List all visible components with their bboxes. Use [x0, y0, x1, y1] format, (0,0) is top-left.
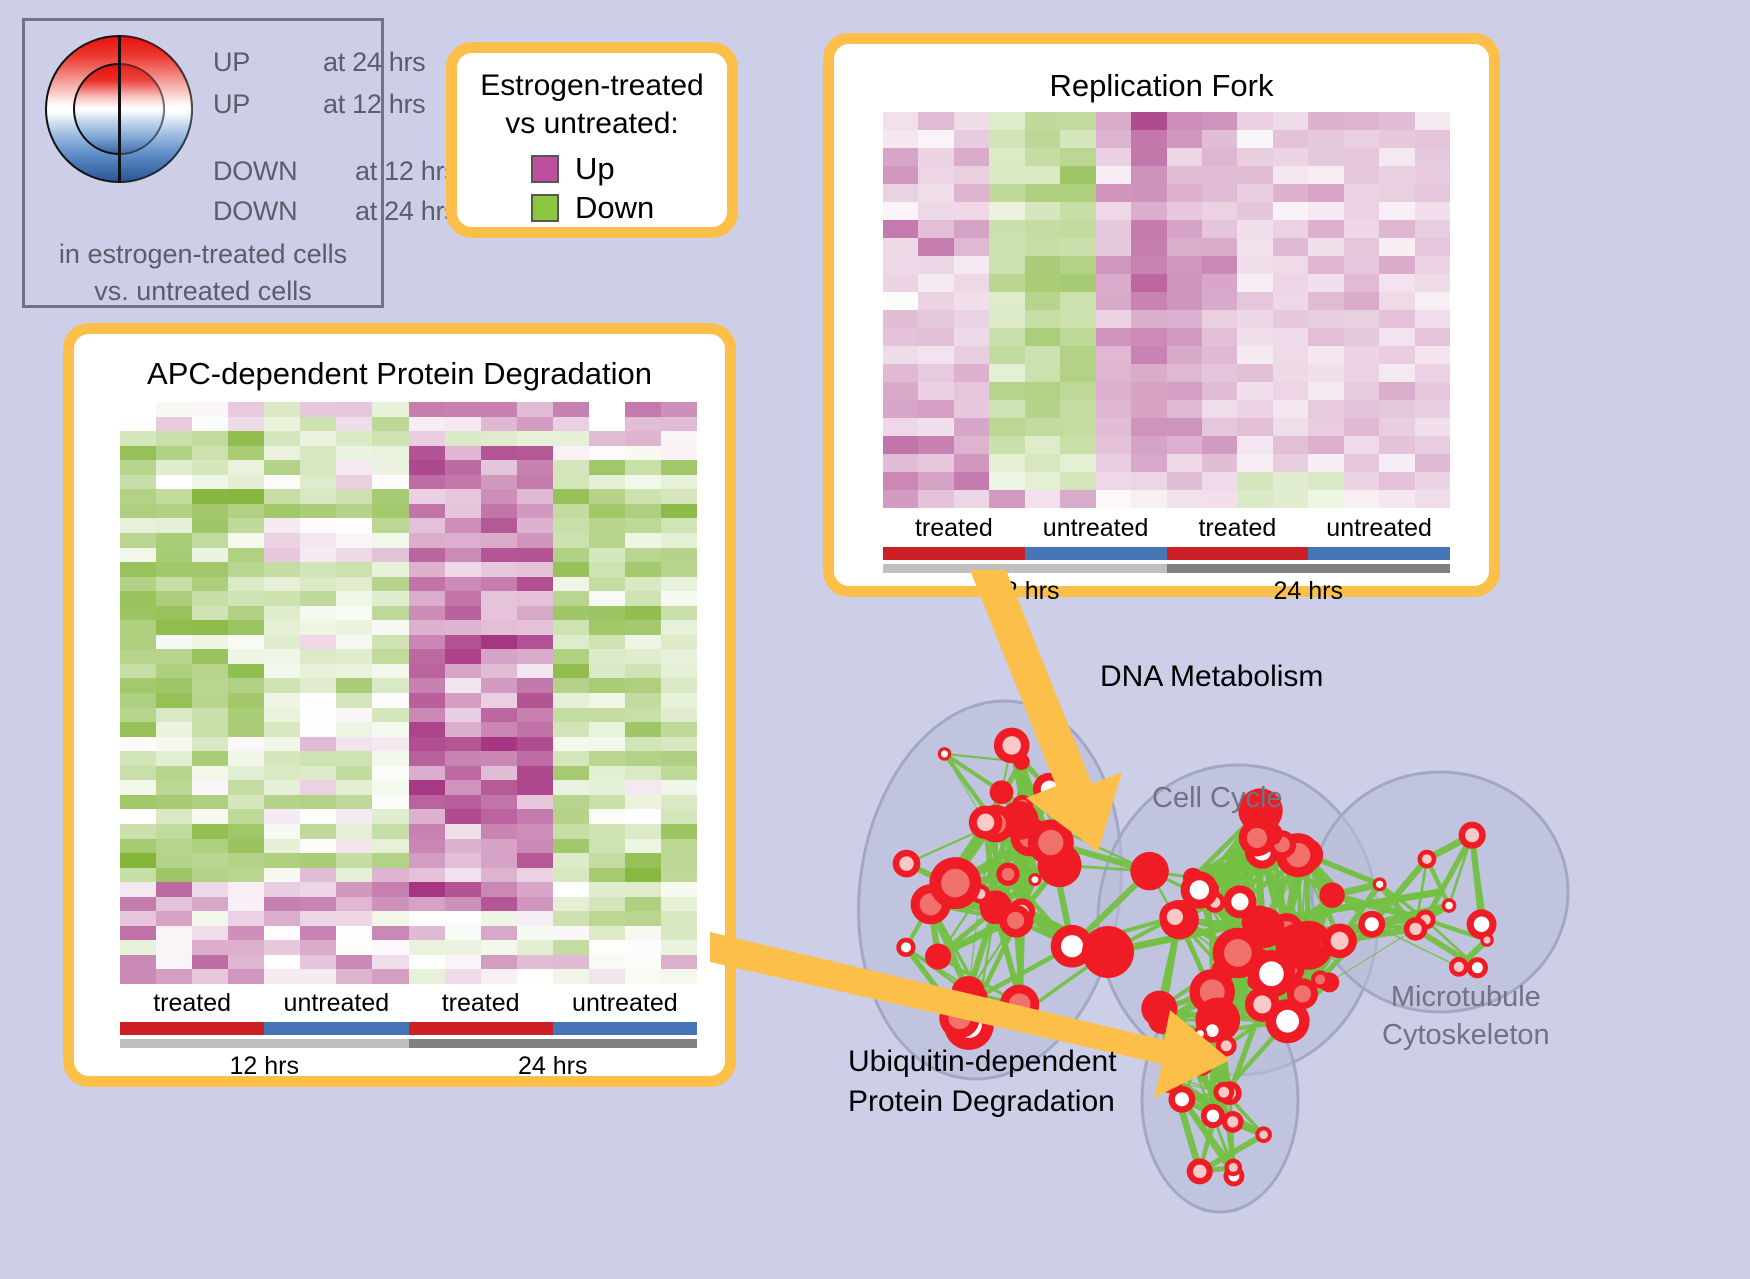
- heatmap-cell: [372, 926, 408, 941]
- heatmap-cell: [336, 635, 372, 650]
- heatmap-cell: [1096, 130, 1131, 148]
- heatmap-cell: [300, 766, 336, 781]
- heatmap-cell: [192, 955, 228, 970]
- legend-state-up-24: UP: [213, 47, 250, 78]
- heatmap-cell: [264, 664, 300, 679]
- heatmap-cell: [1379, 436, 1414, 454]
- heatmap-cell: [409, 417, 445, 432]
- network-node[interactable]: [1028, 873, 1041, 886]
- node-inner-ring: [1294, 985, 1311, 1002]
- network-node[interactable]: [1311, 970, 1329, 988]
- heatmap-cell: [517, 737, 553, 752]
- heatmap-cell: [553, 635, 589, 650]
- heatmap-cell: [1308, 400, 1343, 418]
- heatmap-cell: [372, 969, 408, 984]
- heatmap-cell: [918, 328, 953, 346]
- heatmap-cell: [1096, 490, 1131, 508]
- replication-fork-condition-labels: treated untreated treated untreated: [883, 514, 1450, 543]
- heatmap-cell: [989, 364, 1024, 382]
- heatmap-cell: [1025, 274, 1060, 292]
- heatmap-cell: [372, 577, 408, 592]
- heatmap-cell: [1379, 112, 1414, 130]
- heatmap-cell: [120, 577, 156, 592]
- network-node[interactable]: [1373, 877, 1387, 891]
- heatmap-cell: [1202, 400, 1237, 418]
- heatmap-cell: [192, 664, 228, 679]
- panel-apc-degradation: APC-dependent Protein Degradation treate…: [63, 323, 736, 1087]
- heatmap-cell: [1237, 400, 1272, 418]
- heatmap-cell: [228, 518, 264, 533]
- network-node[interactable]: [1225, 1159, 1243, 1177]
- heatmap-cell: [156, 824, 192, 839]
- heatmap-cell: [553, 606, 589, 621]
- heatmap-cell: [625, 839, 661, 854]
- heatmap-cell: [1379, 382, 1414, 400]
- heatmap-cell: [954, 400, 989, 418]
- network-node[interactable]: [1459, 822, 1486, 849]
- heatmap-cell: [553, 678, 589, 693]
- heatmap-cell: [1167, 436, 1202, 454]
- heatmap-cell: [336, 620, 372, 635]
- heatmap-cell: [228, 693, 264, 708]
- network-node[interactable]: [1417, 850, 1436, 869]
- heatmap-cell: [409, 911, 445, 926]
- heatmap-cell: [517, 722, 553, 737]
- heatmap-cell: [1273, 472, 1308, 490]
- heatmap-cell: [954, 364, 989, 382]
- heatmap-cell: [120, 722, 156, 737]
- heatmap-cell: [625, 548, 661, 563]
- heatmap-cell: [517, 824, 553, 839]
- heatmap-cell: [192, 853, 228, 868]
- concentric-rings-diagram: [45, 35, 195, 187]
- heatmap-cell: [372, 824, 408, 839]
- heatmap-cell: [481, 751, 517, 766]
- heatmap-cell: [661, 664, 697, 679]
- heatmap-cell: [445, 635, 481, 650]
- heatmap-cell: [517, 635, 553, 650]
- heatmap-cell: [192, 897, 228, 912]
- heatmap-cell: [1415, 310, 1450, 328]
- heatmap-cell: [1167, 148, 1202, 166]
- heatmap-cell: [883, 184, 918, 202]
- network-node[interactable]: [1181, 871, 1218, 908]
- heatmap-cell: [1379, 184, 1414, 202]
- heatmap-cell: [954, 292, 989, 310]
- heatmap-cell: [553, 533, 589, 548]
- heatmap-cell: [1308, 472, 1343, 490]
- heatmap-cell: [120, 737, 156, 752]
- heatmap-cell: [264, 620, 300, 635]
- heatmap-cell: [661, 853, 697, 868]
- network-node[interactable]: [1187, 1158, 1213, 1184]
- heatmap-cell: [1308, 364, 1343, 382]
- heatmap-cell: [409, 940, 445, 955]
- heatmap-cell: [625, 853, 661, 868]
- heatmap-cell: [1167, 220, 1202, 238]
- heatmap-cell: [1131, 292, 1166, 310]
- heatmap-cell: [661, 606, 697, 621]
- heatmap-cell: [1096, 382, 1131, 400]
- network-node[interactable]: [1358, 911, 1385, 938]
- heatmap-cell: [192, 548, 228, 563]
- heatmap-cell: [192, 911, 228, 926]
- heatmap-cell: [1096, 148, 1131, 166]
- heatmap-cell: [264, 882, 300, 897]
- heatmap-cell: [336, 504, 372, 519]
- heatmap-cell: [517, 766, 553, 781]
- heatmap-cell: [445, 853, 481, 868]
- heatmap-cell: [1025, 238, 1060, 256]
- heatmap-cell: [553, 926, 589, 941]
- heatmap-cell: [1096, 112, 1131, 130]
- heatmap-cell: [661, 591, 697, 606]
- heatmap-cell: [120, 431, 156, 446]
- heatmap-cell: [120, 868, 156, 883]
- heatmap-cell: [625, 955, 661, 970]
- heatmap-cell: [553, 708, 589, 723]
- heatmap-cell: [192, 737, 228, 752]
- heatmap-cell: [661, 868, 697, 883]
- heatmap-cell: [1237, 202, 1272, 220]
- heatmap-cell: [1379, 490, 1414, 508]
- heatmap-cell: [989, 238, 1024, 256]
- heatmap-cell: [192, 868, 228, 883]
- heatmap-cell: [625, 678, 661, 693]
- heatmap-cell: [409, 577, 445, 592]
- color-key-card: Estrogen-treated vs untreated: Up Down: [446, 42, 738, 238]
- heatmap-cell: [481, 402, 517, 417]
- heatmap-cell: [553, 897, 589, 912]
- heatmap-cell: [589, 853, 625, 868]
- heatmap-cell: [156, 809, 192, 824]
- heatmap-cell: [589, 635, 625, 650]
- network-node[interactable]: [1449, 957, 1469, 977]
- heatmap-cell: [1237, 148, 1272, 166]
- heatmap-cell: [264, 475, 300, 490]
- heatmap-cell: [589, 795, 625, 810]
- heatmap-cell: [1096, 220, 1131, 238]
- heatmap-cell: [409, 809, 445, 824]
- heatmap-cell: [156, 882, 192, 897]
- heatmap-cell: [1202, 418, 1237, 436]
- heatmap-cell: [264, 766, 300, 781]
- heatmap-cell: [445, 402, 481, 417]
- heatmap-cell: [625, 868, 661, 883]
- heatmap-cell: [989, 292, 1024, 310]
- heatmap-cell: [1167, 418, 1202, 436]
- apc-time-labels: 12 hrs 24 hrs: [120, 1052, 697, 1081]
- heatmap-cell: [553, 693, 589, 708]
- heatmap-cell: [661, 649, 697, 664]
- heatmap-cell: [589, 518, 625, 533]
- heatmap-cell: [372, 402, 408, 417]
- heatmap-cell: [1344, 436, 1379, 454]
- network-node[interactable]: [1404, 917, 1428, 941]
- heatmap-cell: [228, 606, 264, 621]
- heatmap-cell: [264, 751, 300, 766]
- arrow-replication-fork-to-cluster: [940, 570, 1200, 870]
- heatmap-cell: [481, 635, 517, 650]
- heatmap-cell: [336, 606, 372, 621]
- bar-24hrs: [409, 1039, 698, 1048]
- heatmap-cell: [883, 436, 918, 454]
- heatmap-cell: [1273, 202, 1308, 220]
- heatmap-cell: [1096, 202, 1131, 220]
- cluster-label-microtubule-cytoskeleton: Microtubule Cytoskeleton: [1382, 978, 1550, 1054]
- heatmap-cell: [553, 839, 589, 854]
- heatmap-cell: [1131, 184, 1166, 202]
- heatmap-cell: [1060, 112, 1095, 130]
- heatmap-cell: [372, 504, 408, 519]
- heatmap-cell: [192, 780, 228, 795]
- heatmap-cell: [192, 693, 228, 708]
- heatmap-cell: [481, 897, 517, 912]
- heatmap-cell: [1273, 436, 1308, 454]
- heatmap-cell: [954, 220, 989, 238]
- heatmap-cell: [589, 737, 625, 752]
- heatmap-cell: [1308, 166, 1343, 184]
- heatmap-cell: [1025, 490, 1060, 508]
- heatmap-cell: [156, 795, 192, 810]
- heatmap-cell: [445, 824, 481, 839]
- node-inner-ring: [1454, 962, 1464, 972]
- heatmap-cell: [481, 911, 517, 926]
- heatmap-cell: [300, 969, 336, 984]
- heatmap-cell: [1202, 184, 1237, 202]
- network-node[interactable]: [1467, 957, 1488, 978]
- heatmap-cell: [156, 533, 192, 548]
- heatmap-cell: [1025, 184, 1060, 202]
- heatmap-cell: [192, 940, 228, 955]
- heatmap-cell: [336, 649, 372, 664]
- heatmap-cell: [517, 955, 553, 970]
- heatmap-cell: [589, 926, 625, 941]
- heatmap-cell: [589, 969, 625, 984]
- heatmap-cell: [1202, 364, 1237, 382]
- heatmap-cell: [120, 766, 156, 781]
- heatmap-cell: [336, 417, 372, 432]
- heatmap-cell: [192, 417, 228, 432]
- heatmap-cell: [156, 955, 192, 970]
- heatmap-cell: [300, 955, 336, 970]
- heatmap-cell: [264, 868, 300, 883]
- heatmap-cell: [1237, 274, 1272, 292]
- heatmap-cell: [553, 955, 589, 970]
- heatmap-cell: [589, 766, 625, 781]
- heatmap-cell: [1344, 364, 1379, 382]
- heatmap-cell: [264, 708, 300, 723]
- heatmap-cell: [300, 693, 336, 708]
- heatmap-cell: [1379, 166, 1414, 184]
- heatmap-cell: [336, 839, 372, 854]
- heatmap-cell: [409, 475, 445, 490]
- heatmap-cell: [1202, 274, 1237, 292]
- heatmap-cell: [1202, 256, 1237, 274]
- heatmap-cell: [517, 940, 553, 955]
- heatmap-cell: [445, 591, 481, 606]
- condition-label: untreated: [1308, 514, 1450, 543]
- heatmap-cell: [264, 969, 300, 984]
- heatmap-cell: [228, 548, 264, 563]
- heatmap-cell: [409, 926, 445, 941]
- heatmap-cell: [517, 664, 553, 679]
- heatmap-cell: [1202, 166, 1237, 184]
- heatmap-cell: [228, 722, 264, 737]
- heatmap-cell: [918, 130, 953, 148]
- heatmap-cell: [1273, 364, 1308, 382]
- heatmap-cell: [954, 112, 989, 130]
- heatmap-cell: [661, 940, 697, 955]
- heatmap-cell: [625, 737, 661, 752]
- heatmap-cell: [372, 635, 408, 650]
- heatmap-cell: [517, 795, 553, 810]
- heatmap-cell: [481, 620, 517, 635]
- heatmap-cell: [300, 489, 336, 504]
- heatmap-cell: [1344, 454, 1379, 472]
- heatmap-cell: [409, 635, 445, 650]
- network-node[interactable]: [1255, 1126, 1272, 1143]
- heatmap-cell: [625, 780, 661, 795]
- heatmap-cell: [372, 722, 408, 737]
- heatmap-cell: [481, 737, 517, 752]
- bar-24hrs: [1167, 564, 1451, 573]
- bar-untreated-12: [264, 1022, 408, 1035]
- heatmap-cell: [1237, 346, 1272, 364]
- heatmap-cell: [300, 678, 336, 693]
- heatmap-cell: [409, 504, 445, 519]
- heatmap-cell: [120, 926, 156, 941]
- heatmap-cell: [1096, 238, 1131, 256]
- heatmap-cell: [409, 868, 445, 883]
- heatmap-cell: [120, 795, 156, 810]
- node-inner-ring: [1231, 893, 1248, 910]
- heatmap-cell: [481, 809, 517, 824]
- heatmap-cell: [409, 737, 445, 752]
- heatmap-cell: [918, 202, 953, 220]
- heatmap-cell: [589, 940, 625, 955]
- heatmap-cell: [1167, 472, 1202, 490]
- heatmap-cell: [954, 202, 989, 220]
- heatmap-cell: [954, 310, 989, 328]
- heatmap-cell: [481, 548, 517, 563]
- legend-state-down-12: DOWN: [213, 156, 297, 187]
- panel-replication-fork: Replication Fork treated untreated treat…: [823, 33, 1500, 597]
- heatmap-cell: [1131, 256, 1166, 274]
- heatmap-cell: [372, 693, 408, 708]
- heatmap-cell: [336, 533, 372, 548]
- heatmap-cell: [445, 606, 481, 621]
- heatmap-cell: [120, 417, 156, 432]
- heatmap-cell: [883, 238, 918, 256]
- heatmap-cell: [661, 722, 697, 737]
- heatmap-cell: [300, 853, 336, 868]
- heatmap-cell: [1096, 256, 1131, 274]
- heatmap-cell: [1060, 166, 1095, 184]
- heatmap-cell: [1060, 472, 1095, 490]
- network-node[interactable]: [1442, 898, 1457, 913]
- heatmap-cell: [228, 489, 264, 504]
- heatmap-cell: [918, 364, 953, 382]
- cluster-label-dna-metabolism: DNA Metabolism: [1100, 660, 1323, 694]
- heatmap-cell: [336, 562, 372, 577]
- heatmap-cell: [156, 868, 192, 883]
- heatmap-cell: [156, 446, 192, 461]
- heatmap-cell: [264, 940, 300, 955]
- network-node[interactable]: [1239, 820, 1276, 857]
- heatmap-cell: [445, 693, 481, 708]
- heatmap-cell: [409, 693, 445, 708]
- legend-state-down-24: DOWN: [213, 196, 297, 227]
- heatmap-cell: [192, 649, 228, 664]
- heatmap-cell: [300, 737, 336, 752]
- heatmap-cell: [1025, 328, 1060, 346]
- node-inner-ring: [1193, 1165, 1207, 1179]
- heatmap-cell: [409, 562, 445, 577]
- heatmap-cell: [1060, 346, 1095, 364]
- heatmap-cell: [1096, 310, 1131, 328]
- heatmap-cell: [445, 868, 481, 883]
- heatmap-cell: [156, 475, 192, 490]
- heatmap-cell: [445, 969, 481, 984]
- heatmap-cell: [264, 518, 300, 533]
- heatmap-cell: [1273, 310, 1308, 328]
- heatmap-cell: [1379, 238, 1414, 256]
- heatmap-cell: [918, 274, 953, 292]
- heatmap-cell: [120, 853, 156, 868]
- heatmap-cell: [300, 911, 336, 926]
- network-node[interactable]: [1467, 909, 1497, 939]
- heatmap-cell: [264, 780, 300, 795]
- heatmap-cell: [1202, 112, 1237, 130]
- network-node[interactable]: [1480, 933, 1494, 947]
- heatmap-cell: [300, 402, 336, 417]
- network-node[interactable]: [1322, 923, 1357, 958]
- heatmap-cell: [372, 533, 408, 548]
- bar-treated-12: [120, 1022, 264, 1035]
- heatmap-cell: [1415, 454, 1450, 472]
- heatmap-cell: [954, 328, 989, 346]
- heatmap-cell: [661, 489, 697, 504]
- heatmap-cell: [1167, 454, 1202, 472]
- heatmap-cell: [1308, 148, 1343, 166]
- legend-time-up-12: at 12 hrs: [323, 89, 425, 120]
- heatmap-cell: [1096, 472, 1131, 490]
- heatmap-cell: [1237, 292, 1272, 310]
- network-node[interactable]: [1319, 882, 1344, 907]
- heatmap-cell: [553, 868, 589, 883]
- heatmap-cell: [445, 839, 481, 854]
- heatmap-cell: [661, 533, 697, 548]
- heatmap-cell: [954, 238, 989, 256]
- heatmap-cell: [192, 882, 228, 897]
- heatmap-cell: [1096, 400, 1131, 418]
- heatmap-cell: [120, 955, 156, 970]
- heatmap-cell: [954, 454, 989, 472]
- heatmap-cell: [372, 431, 408, 446]
- heatmap-cell: [625, 882, 661, 897]
- heatmap-cell: [989, 346, 1024, 364]
- heatmap-cell: [300, 839, 336, 854]
- heatmap-cell: [1415, 112, 1450, 130]
- heatmap-cell: [517, 751, 553, 766]
- heatmap-cell: [625, 620, 661, 635]
- heatmap-cell: [625, 475, 661, 490]
- heatmap-cell: [192, 620, 228, 635]
- heatmap-cell: [445, 548, 481, 563]
- heatmap-cell: [883, 148, 918, 166]
- network-node[interactable]: [893, 850, 921, 878]
